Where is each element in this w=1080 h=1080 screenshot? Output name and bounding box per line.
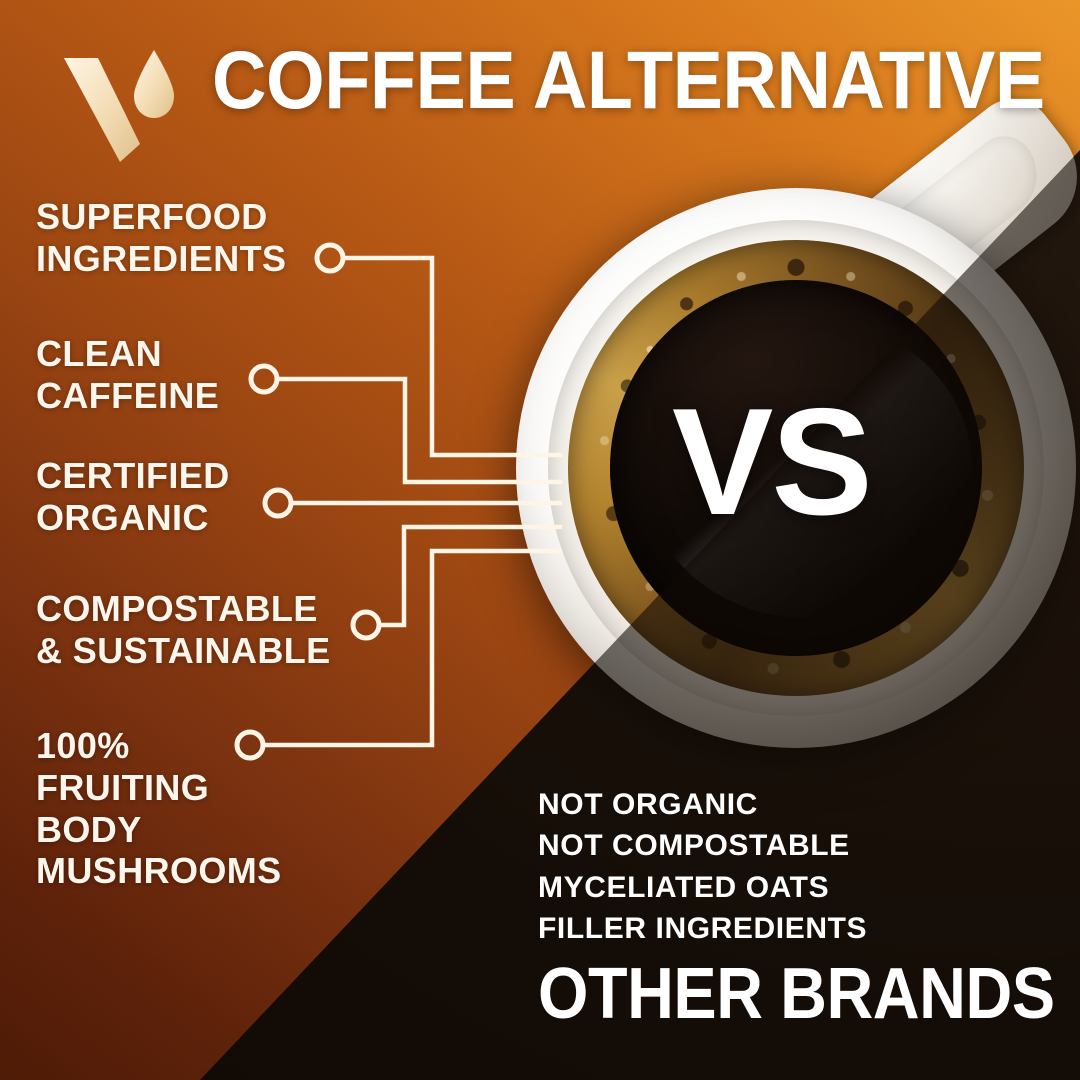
- connector-line-clean-caffeine: [280, 379, 560, 482]
- connector-line-superfood-ingredients: [346, 258, 560, 455]
- bullet-marker-compostable-sustainable: [353, 612, 379, 638]
- con-item-not-compostable: NOT COMPOSTABLE: [538, 825, 867, 866]
- feature-label-certified-organic: CERTIFIED ORGANIC: [36, 455, 230, 539]
- con-item-filler-ingredients: FILLER INGREDIENTS: [538, 908, 867, 949]
- bullet-marker-clean-caffeine: [251, 366, 277, 392]
- feature-label-clean-caffeine: CLEAN CAFFEINE: [36, 333, 219, 417]
- other-brands-heading: OTHER BRANDS: [538, 958, 1055, 1030]
- versus-label: VS: [672, 386, 871, 538]
- feature-label-superfood-ingredients: SUPERFOOD INGREDIENTS: [36, 196, 286, 280]
- feature-label-compostable-sustainable: COMPOSTABLE & SUSTAINABLE: [36, 588, 331, 672]
- feature-label-fruiting-body-mushrooms: 100% FRUITING BODY MUSHROOMS: [36, 725, 282, 892]
- con-item-not-organic: NOT ORGANIC: [538, 784, 867, 825]
- comparison-infographic: COFFEE ALTERNATIVE SUPERFOOD INGREDIENTS…: [0, 0, 1080, 1080]
- bullet-marker-superfood-ingredients: [317, 245, 343, 271]
- connector-line-compostable-sustainable: [382, 527, 560, 625]
- bullet-marker-certified-organic: [265, 490, 291, 516]
- other-brands-cons-list: NOT ORGANIC NOT COMPOSTABLE MYCELIATED O…: [538, 784, 867, 950]
- con-item-myceliated-oats: MYCELIATED OATS: [538, 867, 867, 908]
